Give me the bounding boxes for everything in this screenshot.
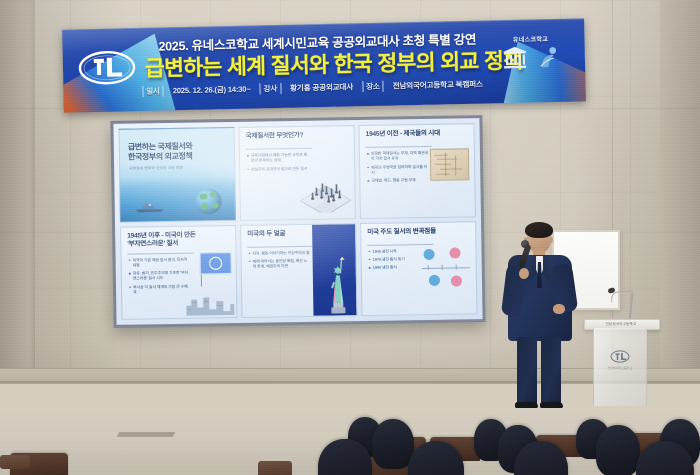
chessboard-illustration — [298, 170, 353, 213]
bullet: 역사상 이 질서 체계의 가장 큰 수혜국 — [129, 283, 191, 294]
bullet: 자유, 법치, 민주주의에 기초한 '부자연스러운' 질서 시도 — [129, 270, 191, 281]
event-banner: 2025. 유네스코학교 세계시민교육 공공외교대사 초청 특별 강연 급변하는… — [62, 18, 586, 112]
timeline-node-2 — [449, 247, 460, 258]
school-oval-emblem — [610, 350, 630, 363]
lecture-hall-photo: 2025. 유네스코학교 세계시민교육 공공외교대사 초청 특별 강연 급변하는… — [0, 0, 700, 475]
slide-5-bullets: 자유, 평등 이야기하는 이상주의의 힘 때에 따라서는 용인당 확립, 확산 … — [248, 249, 310, 272]
timeline-node-3 — [429, 274, 440, 285]
bullet: 미국이 기존 패권 질서 붕괴, 독자적 대형 — [129, 256, 191, 267]
slide-1-title-text: 급변하는 국제질서와한국정부의 외교정책 — [128, 141, 228, 163]
bullet: 때에 따라서는 용인당 확립, 확산 노력 한계, 패권주의 이면 — [249, 258, 311, 269]
slide-grid: 급변하는 국제질서와한국정부의 외교정책 국제정세 변화와 한국의 대응 방향 — [113, 118, 482, 325]
timeline-tick — [428, 264, 429, 269]
banner-right-block: 유네스코학교 — [488, 34, 573, 94]
un-emblem — [209, 256, 222, 269]
lectern: 전남외국어고등학교 전남외국어고등학교 — [584, 297, 658, 407]
lectern-body: 전남외국어고등학교 — [593, 328, 647, 406]
timeline-node-4 — [451, 275, 462, 286]
slide-3-content: 1945년 이전 - 제국들의 시대 진정한 국제질서는 부재, 지역 패권국이… — [358, 123, 475, 218]
unesco-school-network-icon — [538, 45, 561, 74]
slide-3-bullets: 진정한 국제질서는 부재, 지역 패권국이 각자 질서 유지 제국의 주변국을 … — [367, 150, 429, 186]
banner-meta-value-date: 2025. 12. 26.(금) 14:30~ — [173, 84, 251, 97]
slide-5-rule — [247, 245, 313, 247]
projection-screen-frame: 급변하는 국제질서와한국정부의 외교정책 국제정세 변화와 한국의 대응 방향 — [110, 115, 485, 328]
speaker-leg-right — [541, 337, 561, 405]
slide-4-rule — [127, 252, 193, 254]
projection-screen: 급변하는 국제질서와한국정부의 외교정책 국제정세 변화와 한국의 대응 방향 — [113, 118, 482, 325]
speaker-hand-right — [553, 304, 565, 314]
microphone-head-icon — [521, 240, 529, 248]
slide-2-rule — [246, 148, 312, 150]
lectern-emblem-caption: 전남외국어고등학교 — [594, 366, 646, 370]
slide-2-title: 국제질서란 무엇인가? — [246, 131, 349, 141]
timeline-tick — [442, 264, 443, 269]
slide-6-rule — [367, 243, 433, 245]
banner-meta-value-place: 전남외국어고등학교 북캠퍼스 — [393, 79, 483, 92]
slide-3-title: 1945년 이전 - 제국들의 시대 — [366, 129, 469, 139]
statue-of-liberty-illustration — [327, 255, 350, 313]
lectern-top-label: 전남외국어고등학교 — [590, 321, 652, 326]
banner-emblem-group — [502, 45, 561, 75]
unesco-temple-icon — [502, 46, 529, 76]
slide-5-content: 미국의 두 얼굴 자유, 평등 이야기하는 이상주의의 힘 때에 따라서는 용인… — [240, 223, 357, 318]
bullet: 자유, 평등 이야기하는 이상주의의 힘 — [248, 249, 310, 255]
slide-1-subtitle: 국제정세 변화와 한국의 대응 방향 — [129, 166, 183, 172]
timeline-node-1 — [423, 248, 434, 259]
bullet: 제국의 주변국을 침략하며 질서를 유지 — [367, 163, 429, 174]
banner-meta-key-speaker: 강사 — [259, 83, 281, 94]
banner-main-title: 급변하는 세계 질서와 한국 정부의 외교 정책 — [145, 44, 486, 82]
un-flag-icon — [199, 252, 231, 274]
slide-1-title: 급변하는 국제질서와한국정부의 외교정책 국제정세 변화와 한국의 대응 방향 — [119, 127, 236, 222]
speaker-figure — [505, 224, 579, 414]
globe-illustration — [195, 188, 221, 214]
timeline-diagram — [419, 246, 472, 291]
slide-5-title: 미국의 두 얼굴 — [247, 229, 350, 239]
timeline-axis — [422, 267, 470, 269]
school-oval-emblem — [77, 48, 138, 87]
banner-meta-key-place: 장소 — [362, 81, 384, 92]
ruins-illustration — [186, 289, 234, 316]
ship-illustration — [135, 199, 165, 208]
slide-4-title: 1945년 이후 - 미국이 만든'부자연스러운' 질서 — [127, 231, 230, 249]
speaker-shoe-right — [540, 402, 563, 408]
slide-6-content: 미국 주도 질서의 변곡점들 1945 냉전 시작 1979 냉전 종식 위기 … — [360, 221, 477, 316]
speaker-hair — [525, 222, 553, 238]
slide-6-title: 미국 주도 질서의 변곡점들 — [367, 227, 470, 237]
speaker-shoe-left — [515, 402, 538, 408]
bullet: 진정한 국제질서는 부재, 지역 패권국이 각자 질서 유지 — [367, 150, 429, 161]
slide-4-bullets: 미국이 기존 패권 질서 붕괴, 독자적 대형 자유, 법치, 민주주의에 기초… — [129, 256, 191, 297]
floor-vent — [117, 432, 175, 437]
banner-meta-key-date: 일시 — [142, 86, 164, 97]
slide-3-rule — [366, 146, 432, 148]
slide-2-content: 국제질서란 무엇인가? 국제사회에서 예측 가능한 규칙과 패턴의 존재하는 상… — [239, 125, 356, 220]
banner-meta-value-speaker: 황기홍 공공외교대사 — [290, 81, 353, 93]
old-map-illustration — [430, 148, 469, 181]
timeline-tick — [456, 264, 457, 269]
slide-4-content: 1945년 이후 - 미국이 만든'부자연스러운' 질서 미국이 기존 패권 질… — [120, 224, 237, 319]
unesco-school-label: 유네스코학교 — [513, 34, 549, 44]
speaker-leg-left — [517, 337, 537, 405]
speaker-legs — [517, 337, 563, 409]
bullet: 국제사회에서 예측 가능한 규칙과 패턴의 존재하는 상태 — [247, 152, 309, 163]
bullet: 국제법, 제도, 행동 규범 부재 — [367, 177, 429, 183]
speaker-ear-right — [550, 237, 553, 243]
